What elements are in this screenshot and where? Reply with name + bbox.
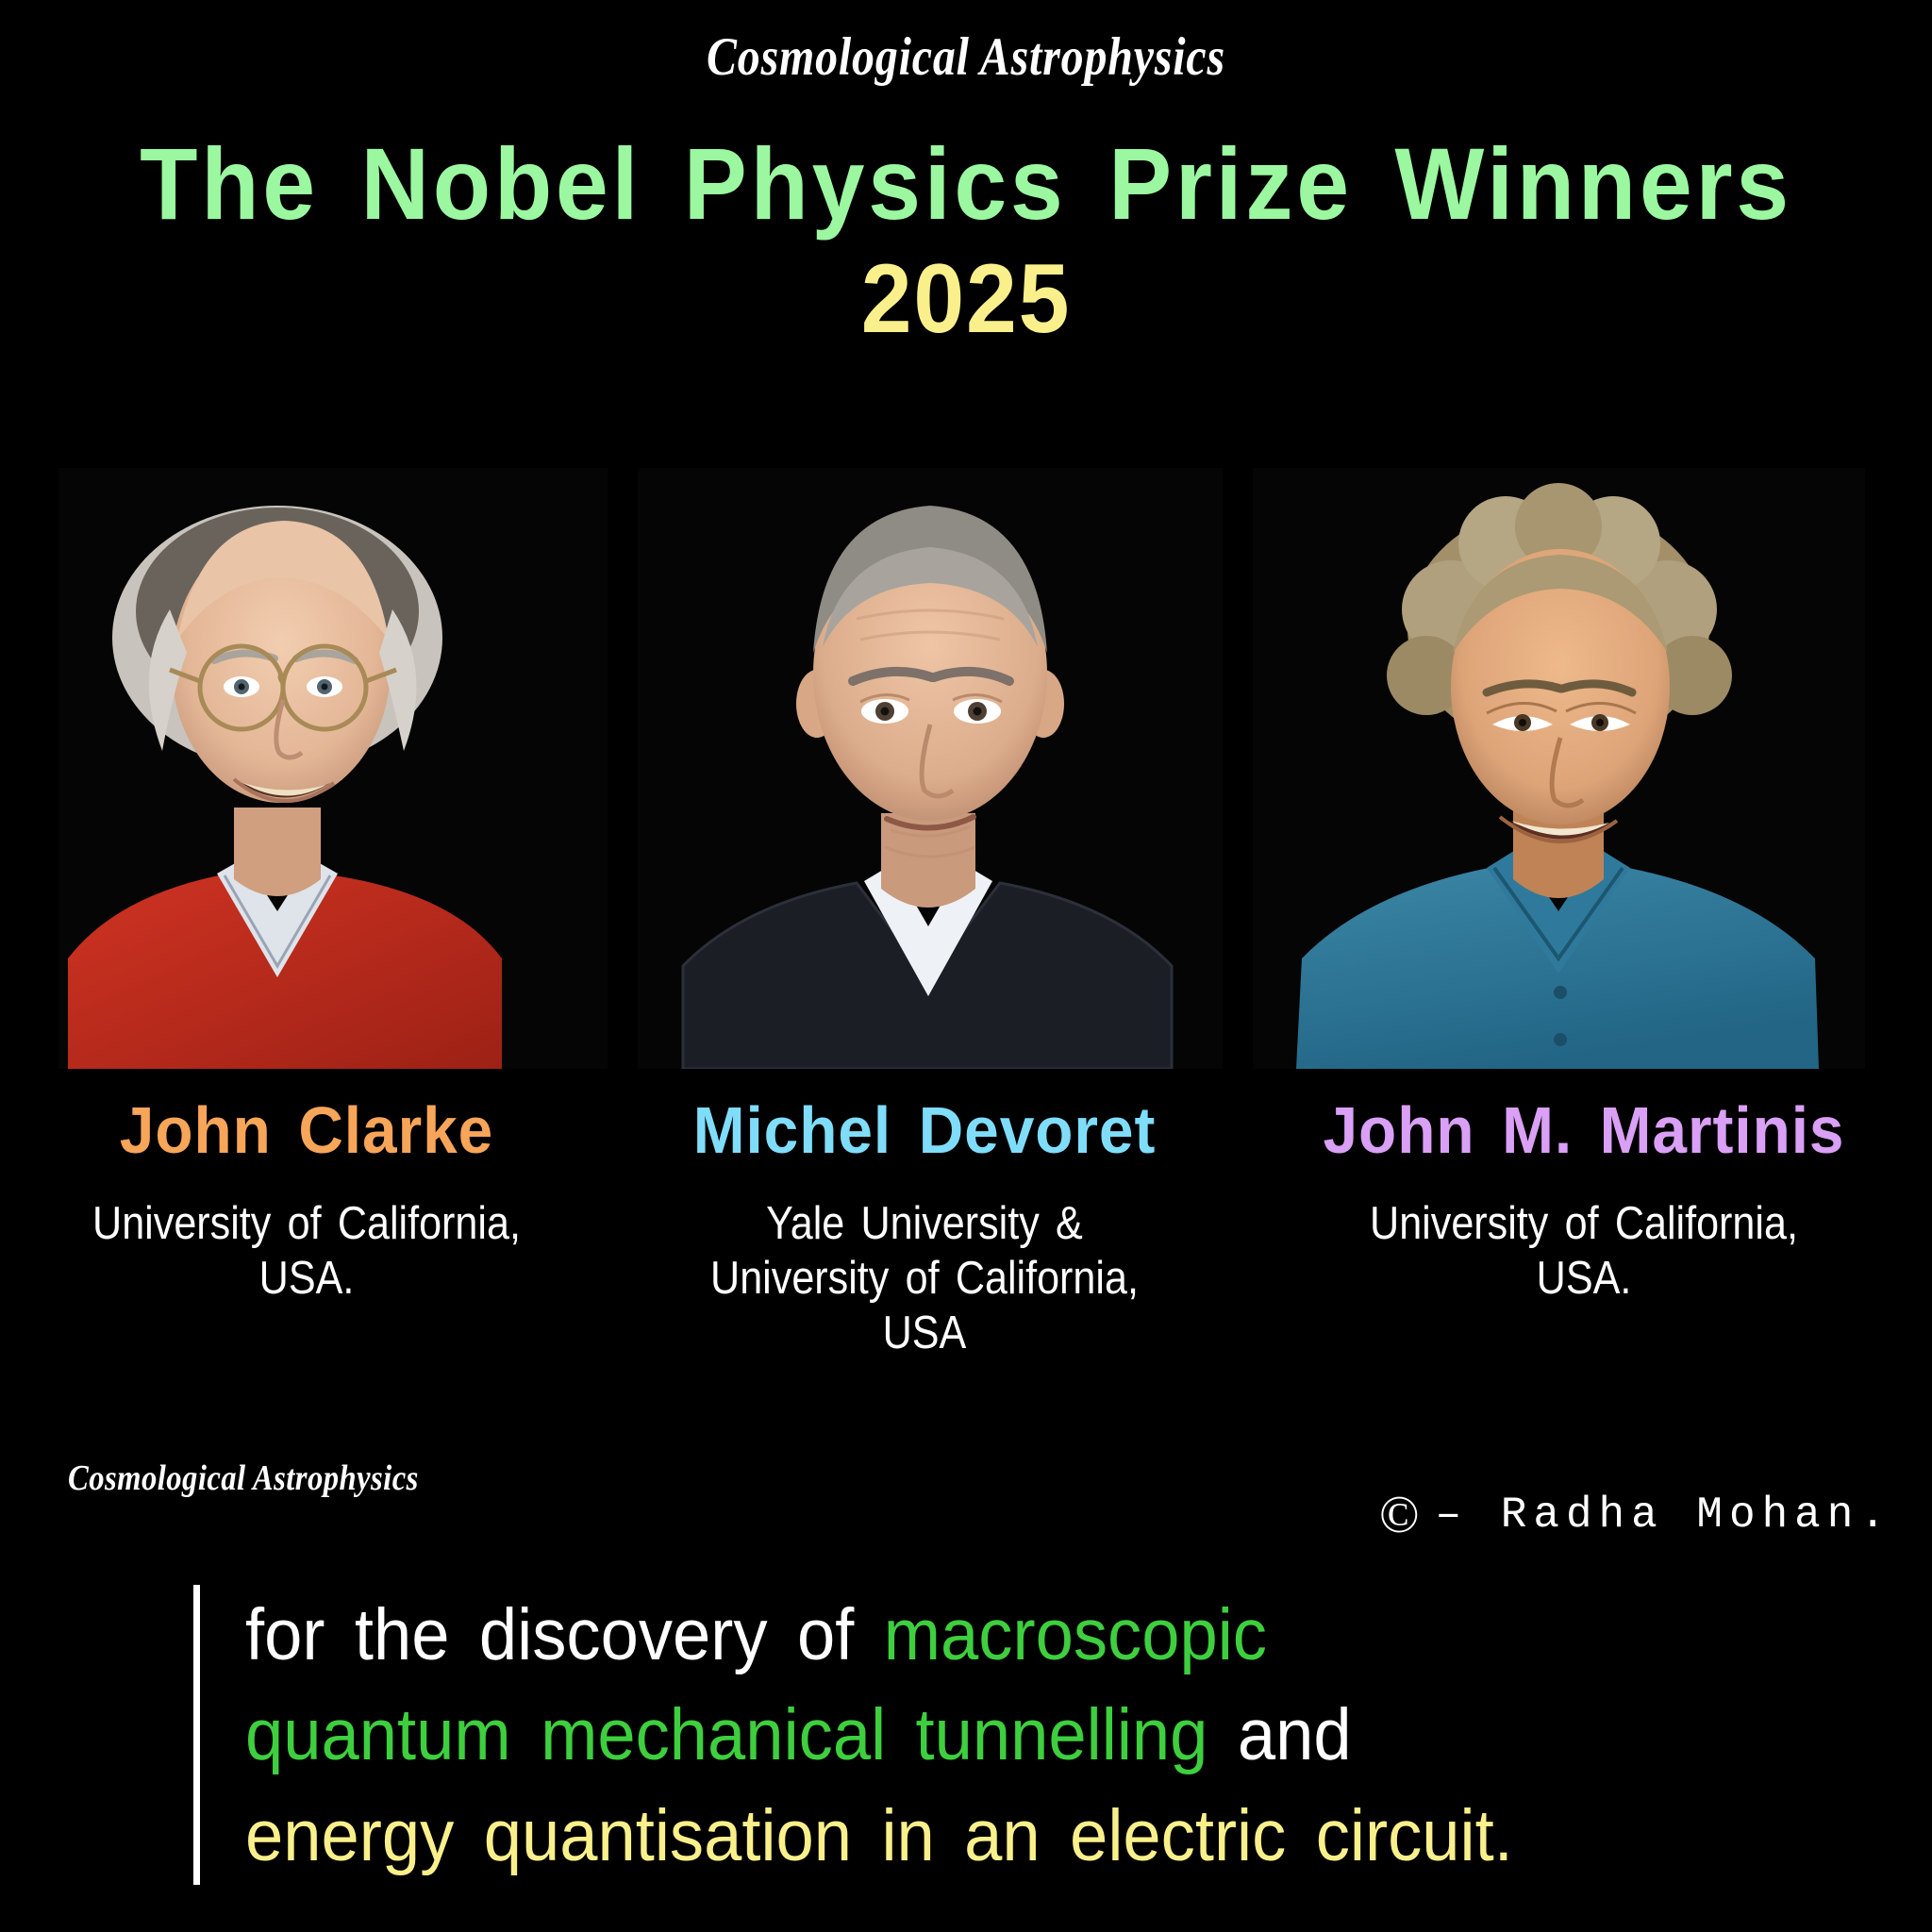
laureate-affiliation-martinis: University of California, USA. xyxy=(1277,1197,1890,1307)
portrait-image-martinis xyxy=(1253,468,1865,1069)
laureate-card-devoret: Michel Devoret Yale University & Univers… xyxy=(613,1097,1236,1360)
citation-segment: and xyxy=(1207,1694,1351,1775)
citation-segment: macroscopic xyxy=(884,1594,1267,1675)
laureate-affiliation-clarke: University of California, USA. xyxy=(37,1197,576,1307)
citation-line-3: energy quantisation in an electric circu… xyxy=(245,1786,1802,1886)
portrait-john-clarke xyxy=(58,468,608,1069)
citation-segment: for the discovery of xyxy=(245,1594,884,1675)
laureate-names-row: John Clarke University of California, US… xyxy=(0,1097,1932,1360)
citation-quote-block: for the discovery of macroscopic quantum… xyxy=(193,1585,1901,1885)
citation-segment: quantum mechanical tunnelling xyxy=(245,1694,1207,1775)
laureate-name-clarke: John Clarke xyxy=(19,1097,595,1163)
laureate-card-martinis: John M. Martinis University of Californi… xyxy=(1236,1097,1932,1360)
brand-header-title: Cosmological Astrophysics xyxy=(155,26,1777,88)
portrait-michel-devoret xyxy=(638,468,1223,1069)
portrait-image-clarke xyxy=(58,468,608,1069)
citation-line-1: for the discovery of macroscopic xyxy=(245,1585,1802,1685)
portrait-row xyxy=(58,468,1865,1069)
citation-line-2: quantum mechanical tunnelling and xyxy=(245,1685,1802,1785)
page-title: The Nobel Physics Prize Winners xyxy=(68,125,1865,242)
brand-footer-title: Cosmological Astrophysics xyxy=(68,1457,419,1499)
copyright-author: – Radha Mohan. xyxy=(1436,1491,1892,1540)
portrait-john-martinis xyxy=(1253,468,1865,1069)
copyright-icon: © xyxy=(1379,1489,1426,1541)
laureate-card-clarke: John Clarke University of California, US… xyxy=(0,1097,613,1360)
laureate-name-martinis: John M. Martinis xyxy=(1257,1097,1911,1163)
laureate-name-devoret: Michel Devoret xyxy=(632,1097,1217,1163)
copyright-credit: © – Radha Mohan. xyxy=(1379,1489,1892,1541)
citation-segment: energy quantisation in an electric circu… xyxy=(245,1795,1513,1876)
poster-root: Cosmological Astrophysics The Nobel Phys… xyxy=(0,0,1932,1932)
award-year: 2025 xyxy=(68,243,1865,356)
portrait-image-devoret xyxy=(638,468,1223,1069)
laureate-affiliation-devoret: Yale University & University of Californ… xyxy=(651,1197,1199,1360)
